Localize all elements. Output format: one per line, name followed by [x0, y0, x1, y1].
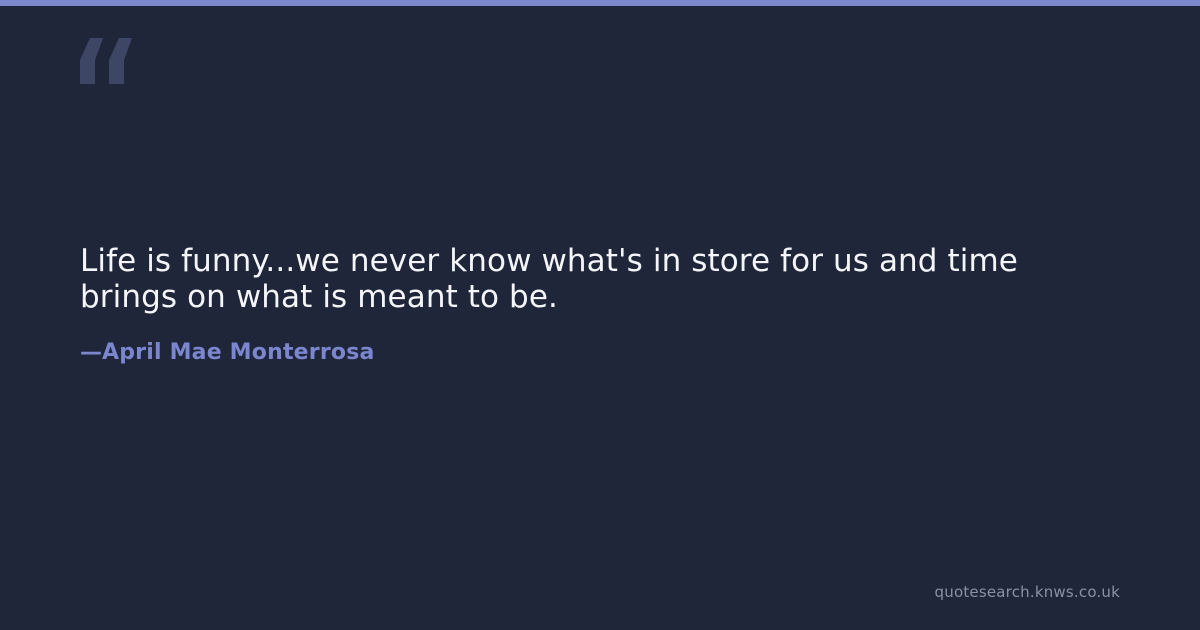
top-accent-bar: [0, 0, 1200, 6]
attribution-dash: —: [80, 338, 102, 368]
quote-text: Life is funny...we never know what's in …: [80, 243, 1080, 315]
attribution: — April Mae Monterrosa: [80, 338, 375, 368]
quote-block: Life is funny...we never know what's in …: [80, 243, 1080, 315]
quote-card: Life is funny...we never know what's in …: [0, 0, 1200, 630]
quotation-mark-icon: [80, 38, 132, 84]
author-name: April Mae Monterrosa: [102, 338, 375, 368]
source-url: quotesearch.knws.co.uk: [935, 583, 1120, 601]
footer: quotesearch.knws.co.uk: [935, 582, 1120, 602]
